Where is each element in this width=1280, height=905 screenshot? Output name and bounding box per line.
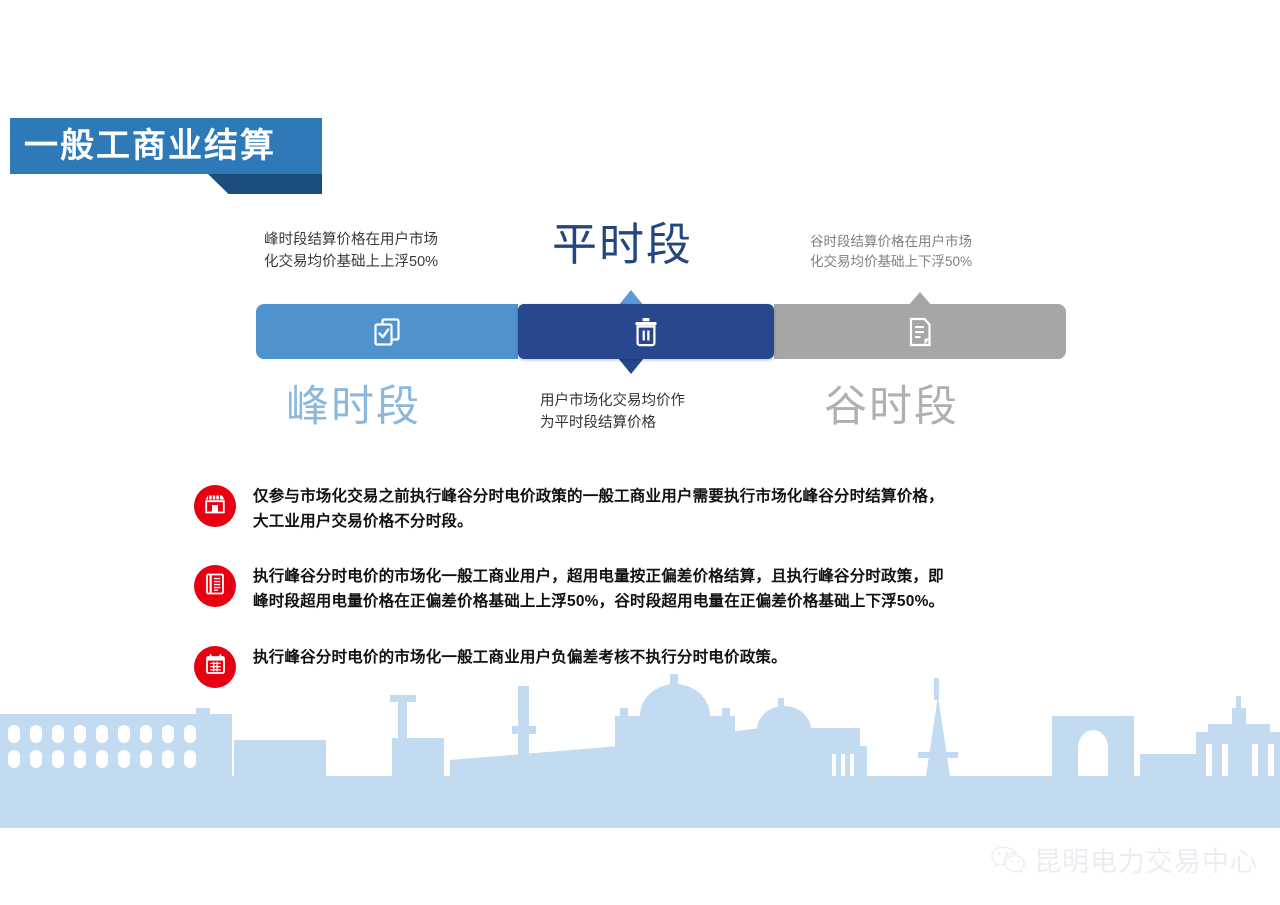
document-note-icon: [907, 316, 933, 348]
bullet-line: 大工业用户交易价格不分时段。: [253, 509, 944, 534]
watermark: 昆明电力交易中心: [990, 844, 1258, 881]
segment-flat[interactable]: [518, 304, 774, 359]
storefront-icon: [203, 492, 227, 521]
bullet-item: 执行峰谷分时电价的市场化一般工商业用户负偏差考核不执行分时电价政策。: [194, 645, 1094, 688]
bullet-text: 仅参与市场化交易之前执行峰谷分时电价政策的一般工商业用户需要执行市场化峰谷分时结…: [253, 484, 944, 534]
clipboard-check-icon: [372, 316, 402, 348]
band-label-flat: 平时段: [552, 222, 693, 267]
bullet-line: 峰时段超用电量价格在正偏差价格基础上上浮50%，谷时段超用电量在正偏差价格基础上…: [253, 589, 944, 614]
bullet-line: 执行峰谷分时电价的市场化一般工商业用户负偏差考核不执行分时电价政策。: [253, 645, 787, 670]
page-title-banner: 一般工商业结算: [10, 118, 322, 174]
callout-flat: 用户市场化交易均价作 为平时段结算价格: [540, 390, 685, 435]
callout-peak-line2: 化交易均价基础上上浮50%: [264, 252, 438, 274]
band-label-peak: 峰时段: [286, 386, 421, 429]
watermark-text: 昆明电力交易中心: [1034, 849, 1258, 876]
bullet-icon-circle-3: [194, 646, 236, 688]
callout-valley-line1: 谷时段结算价格在用户市场: [810, 232, 972, 252]
callout-flat-line2: 为平时段结算价格: [540, 412, 685, 434]
calendar-icon: [204, 653, 227, 681]
bullet-line: 执行峰谷分时电价的市场化一般工商业用户，超用电量按正偏差价格结算，且执行峰谷分时…: [253, 564, 944, 589]
bullet-line: 仅参与市场化交易之前执行峰谷分时电价政策的一般工商业用户需要执行市场化峰谷分时结…: [253, 484, 944, 509]
segment-peak[interactable]: [256, 304, 518, 359]
wechat-icon: [990, 844, 1026, 881]
ledger-book-icon: [204, 572, 227, 601]
bullet-item: 执行峰谷分时电价的市场化一般工商业用户，超用电量按正偏差价格结算，且执行峰谷分时…: [194, 564, 1094, 614]
callout-valley: 谷时段结算价格在用户市场 化交易均价基础上下浮50%: [810, 232, 972, 273]
trash-icon: [632, 316, 660, 348]
bullet-icon-circle-2: [194, 565, 236, 607]
band-label-valley: 谷时段: [824, 386, 959, 429]
slide-canvas: 一般工商业结算 峰时段结算价格在用户市场 化交易均价基础上上浮50% 平时段 谷…: [0, 0, 1280, 905]
time-segment-bar: [256, 304, 1066, 359]
title-banner-fold: [208, 174, 322, 194]
pointer-triangle-flat: [618, 358, 644, 374]
bullet-list: 仅参与市场化交易之前执行峰谷分时电价政策的一般工商业用户需要执行市场化峰谷分时结…: [194, 484, 1094, 718]
bullet-text: 执行峰谷分时电价的市场化一般工商业用户，超用电量按正偏差价格结算，且执行峰谷分时…: [253, 564, 944, 614]
bullet-item: 仅参与市场化交易之前执行峰谷分时电价政策的一般工商业用户需要执行市场化峰谷分时结…: [194, 484, 1094, 534]
callout-peak: 峰时段结算价格在用户市场 化交易均价基础上上浮50%: [264, 230, 438, 274]
callout-flat-line1: 用户市场化交易均价作: [540, 390, 685, 412]
bullet-icon-circle-1: [194, 485, 236, 527]
bullet-text: 执行峰谷分时电价的市场化一般工商业用户负偏差考核不执行分时电价政策。: [253, 645, 787, 670]
segment-valley[interactable]: [774, 304, 1066, 359]
callout-valley-line2: 化交易均价基础上下浮50%: [810, 252, 972, 272]
page-title: 一般工商业结算: [24, 129, 276, 163]
callout-peak-line1: 峰时段结算价格在用户市场: [264, 230, 438, 252]
